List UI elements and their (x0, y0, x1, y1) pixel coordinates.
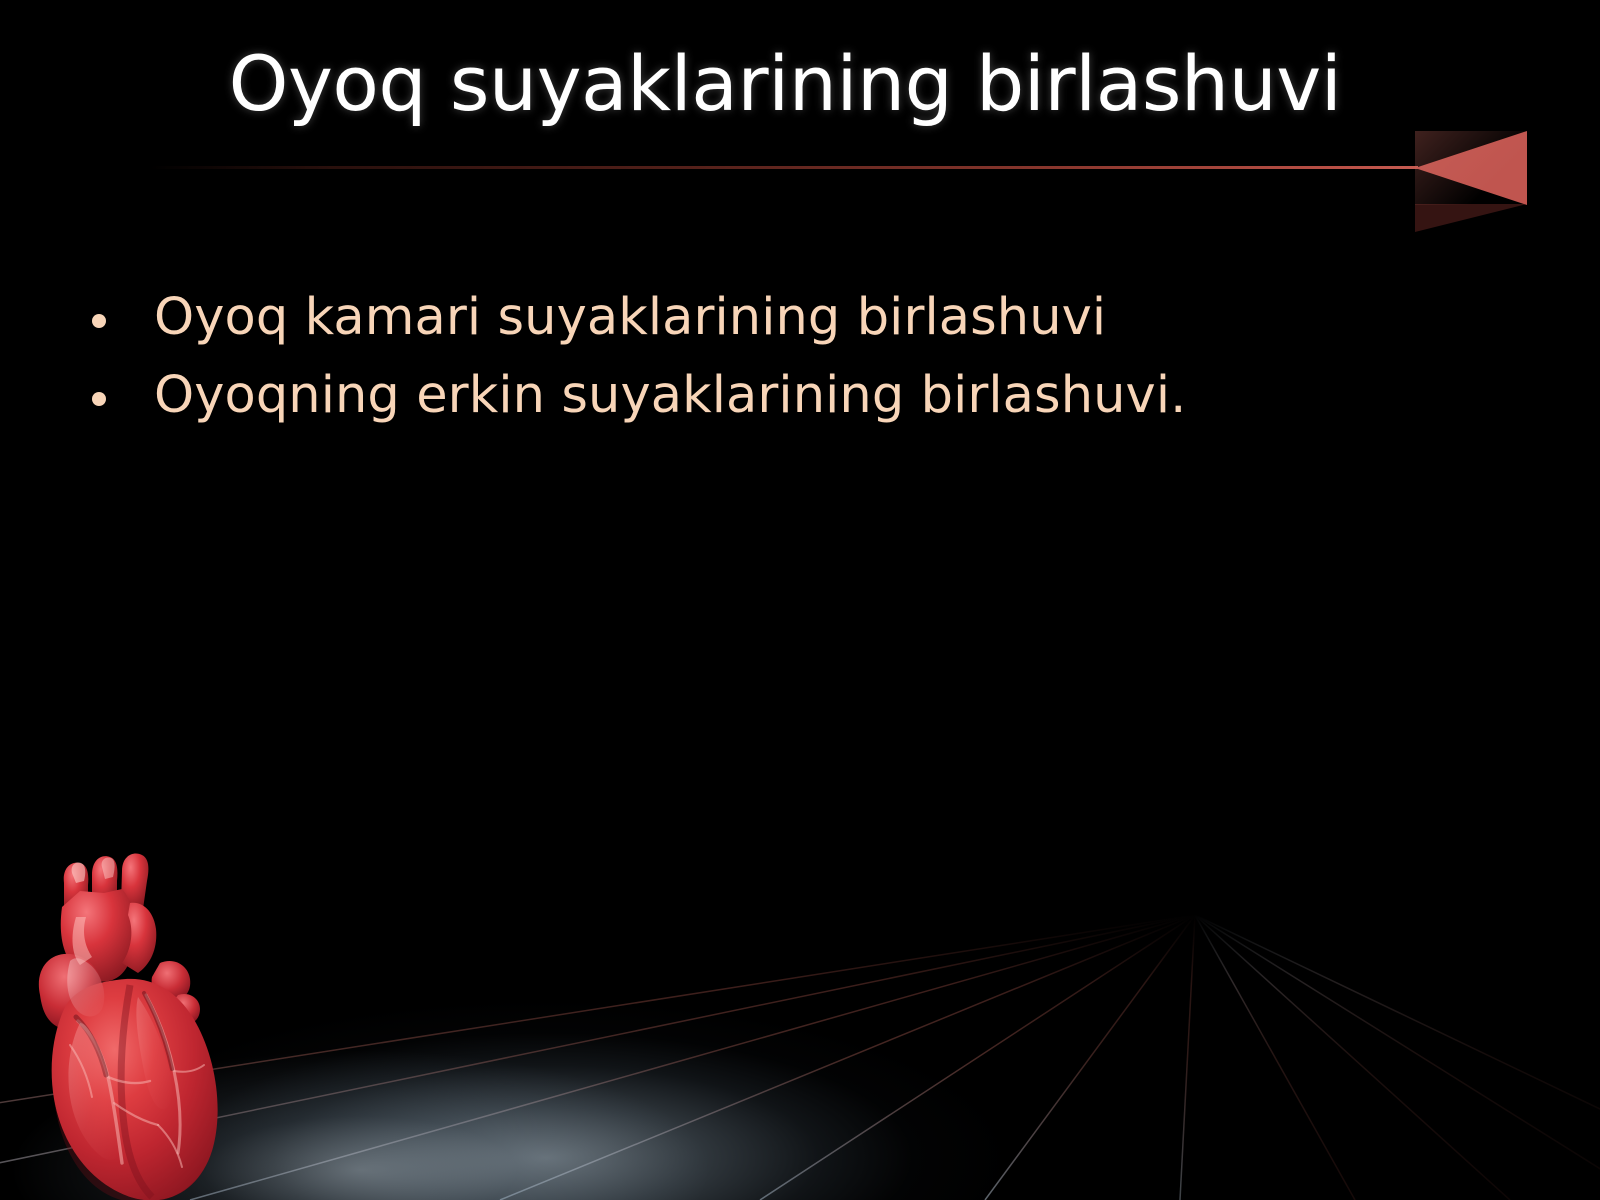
perspective-grid-floor (0, 915, 1600, 1200)
floor-glow-secondary (0, 1000, 720, 1200)
floor-right-shadow (980, 915, 1600, 1200)
bullet-text: Oyoq kamari suyaklarining birlashuvi (154, 288, 1106, 348)
bullet-marker-icon (92, 314, 106, 328)
title-divider-rule (150, 166, 1418, 169)
page-title: Oyoq suyaklarining birlashuvi (120, 46, 1450, 122)
bullet-marker-icon (92, 392, 106, 406)
anatomical-heart-image (18, 845, 258, 1200)
floor-glow (150, 955, 1050, 1200)
triangle-accent-icon (1415, 131, 1527, 205)
triangle-accent-reflection (1415, 204, 1527, 232)
bullet-text: Oyoqning erkin suyaklarining birlashuvi. (154, 366, 1186, 426)
bullet-list: Oyoq kamari suyaklarining birlashuvi Oyo… (92, 288, 1472, 443)
list-item: Oyoq kamari suyaklarining birlashuvi (92, 288, 1472, 348)
horizon-fade (0, 915, 1600, 985)
slide-canvas: Oyoq suyaklarining birlashuvi Oyoq kamar… (0, 0, 1600, 1200)
grid-lines-svg (0, 915, 1600, 1200)
heart-illustration-svg (18, 845, 258, 1200)
list-item: Oyoqning erkin suyaklarining birlashuvi. (92, 366, 1472, 426)
